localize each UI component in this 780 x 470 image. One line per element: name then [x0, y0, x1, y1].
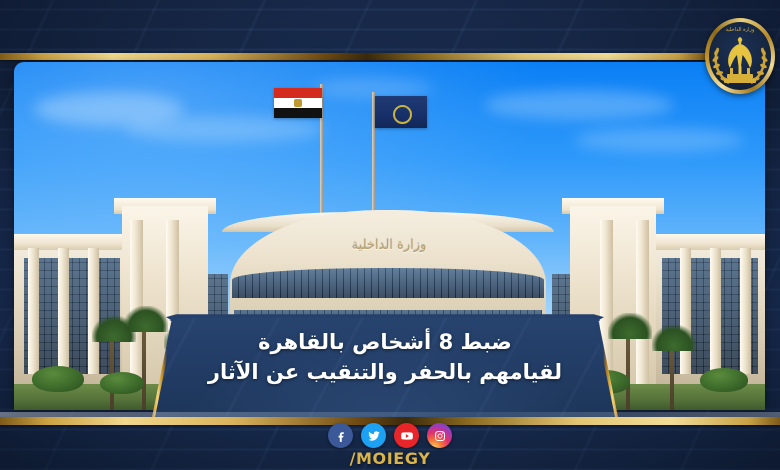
building-column — [710, 248, 721, 374]
social-media-bar — [0, 423, 780, 448]
rotunda-glass-band — [232, 268, 544, 298]
news-poster: وزارة الداخلية ضبط 8 أشخاص بالقاهرة لقيا… — [0, 0, 780, 470]
ministry-of-interior-flag — [375, 96, 427, 128]
palm-tree — [670, 340, 674, 410]
building-column — [680, 248, 691, 374]
palm-tree — [626, 330, 630, 410]
shrub — [32, 366, 84, 392]
caption-banner: ضبط 8 أشخاص بالقاهرة لقيامهم بالحفر والت… — [152, 313, 618, 417]
youtube-icon[interactable] — [394, 423, 419, 448]
twitter-icon[interactable] — [361, 423, 386, 448]
egypt-ministry-of-interior-emblem: وزارة الداخلية — [705, 18, 775, 94]
palm-fronds — [652, 325, 696, 351]
building-column — [636, 220, 649, 384]
cloud — [484, 90, 674, 120]
shrub — [700, 368, 748, 392]
building-column — [88, 248, 99, 374]
caption-line-1: ضبط 8 أشخاص بالقاهرة — [152, 327, 618, 357]
egypt-flag — [274, 88, 322, 118]
palm-tree — [110, 332, 114, 410]
social-handle: /MOIEGY — [0, 449, 780, 468]
instagram-icon[interactable] — [427, 423, 452, 448]
shrub — [100, 372, 144, 394]
facebook-icon[interactable] — [328, 423, 353, 448]
caption-line-2: لقيامهم بالحفر والتنقيب عن الآثار — [152, 357, 618, 387]
building-column — [28, 248, 39, 374]
building-column — [740, 248, 751, 374]
building-column — [58, 248, 69, 374]
top-gold-divider — [0, 53, 706, 60]
caption-text: ضبط 8 أشخاص بالقاهرة لقيامهم بالحفر والت… — [152, 327, 618, 387]
palm-tree — [142, 324, 146, 410]
cloud — [574, 128, 744, 152]
cloud — [124, 116, 324, 142]
emblem-inscription: وزارة الداخلية — [705, 27, 775, 33]
social-handle-text: /MOIEGY — [350, 449, 431, 468]
building-signage: وزارة الداخلية — [304, 238, 474, 253]
